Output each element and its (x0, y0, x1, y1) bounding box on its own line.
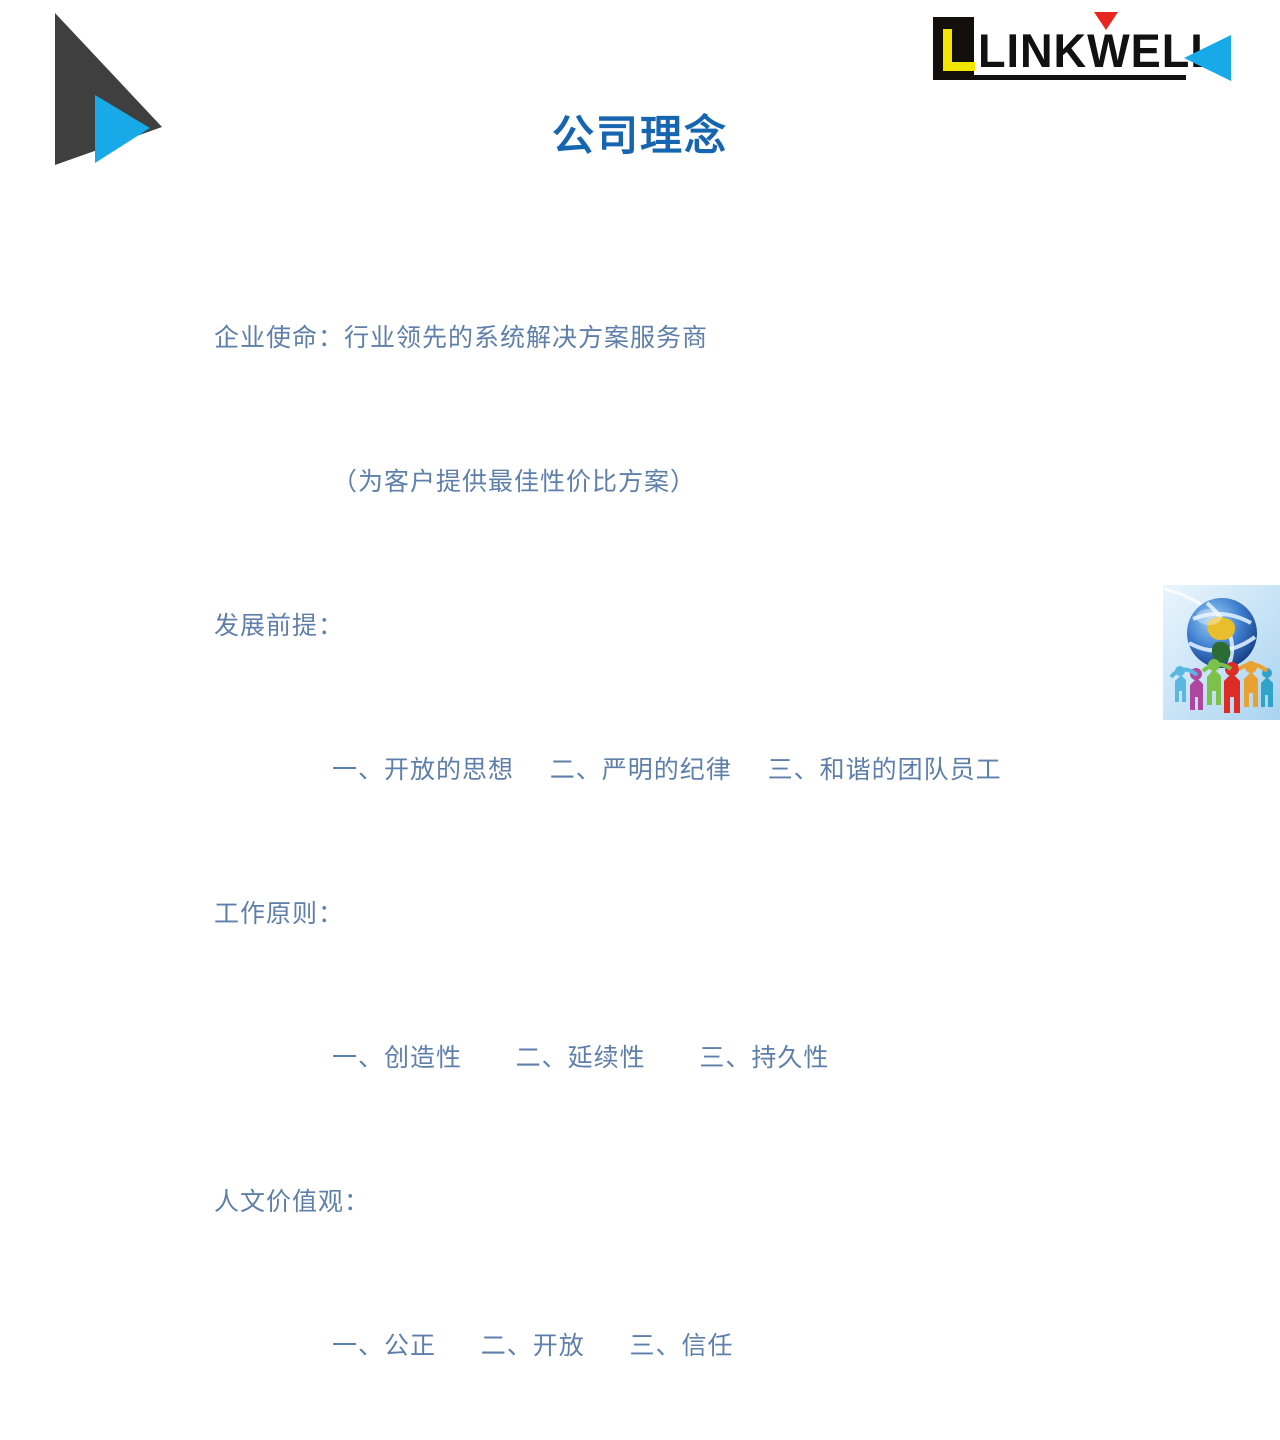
logo-wordmark: LINKWELL (978, 26, 1219, 76)
globe-highlight (1196, 609, 1222, 625)
teamwork-globe-svg (1163, 585, 1280, 720)
body-line: 一、公正 二、开放 三、信任 (214, 1322, 1214, 1370)
body-line: 工作原则： (214, 890, 1214, 938)
body-line: 人文价值观： (214, 1178, 1214, 1226)
logo-mark-square (933, 17, 974, 80)
body-line: 一、创造性 二、延续性 三、持久性 (214, 1034, 1214, 1082)
body-line: 发展前提： (214, 602, 1214, 650)
logo-cyan-triangle-icon (1184, 35, 1231, 81)
slide-canvas: LINKWELL 公司理念 企业使命：行业领先的系统解决方案服务商 （为客户提供… (0, 0, 1280, 720)
page-title: 公司理念 (0, 110, 1280, 162)
body-line: 一、开放的思想 二、严明的纪律 三、和谐的团队员工 (214, 746, 1214, 794)
logo-letter-l-horizontal (943, 62, 975, 71)
body-line: （为客户提供最佳性价比方案） (214, 458, 1214, 506)
body-line: 企业使命：行业领先的系统解决方案服务商 (214, 314, 1214, 362)
logo-red-triangle-icon (1094, 12, 1118, 30)
teamwork-globe-image (1163, 585, 1280, 720)
logo-underline (970, 75, 1186, 80)
slide-body: 企业使命：行业领先的系统解决方案服务商 （为客户提供最佳性价比方案） 发展前提：… (214, 218, 1214, 1440)
figure-red-head (1225, 662, 1239, 676)
company-logo: LINKWELL (930, 10, 1240, 90)
